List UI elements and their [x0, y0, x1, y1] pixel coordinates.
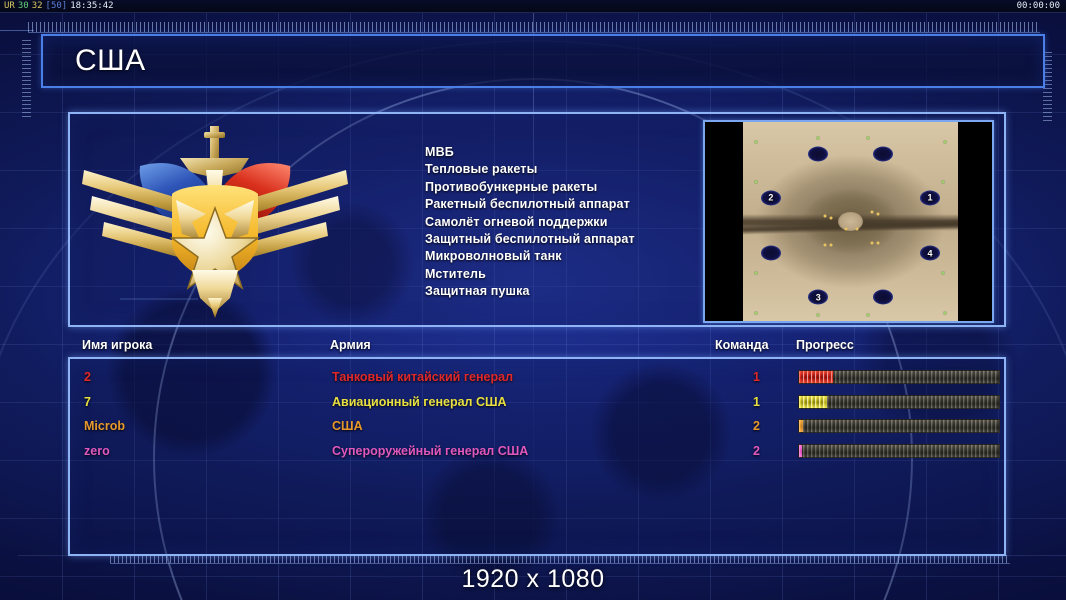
ruler-left-upper — [22, 40, 31, 120]
player-progress-bar — [798, 444, 1000, 458]
map-supply-marker — [871, 210, 874, 213]
player-progress-fill — [799, 445, 802, 457]
status-clock: 18:35:42 — [70, 0, 113, 13]
map-supply-marker — [871, 242, 874, 245]
faction-info-panel: МВБ Тепловые ракеты Противобункерные рак… — [68, 112, 1006, 327]
map-resource-marker — [817, 136, 820, 139]
player-army: Танковый китайский генерал — [332, 365, 513, 389]
map-resource-marker — [941, 272, 944, 275]
map-supply-marker — [823, 244, 826, 247]
player-name: zero — [84, 439, 110, 463]
map-start-position — [808, 146, 828, 161]
map-resource-marker — [866, 136, 869, 139]
page-title: США — [75, 44, 146, 78]
player-table-panel: 2Танковый китайский генерал17Авиационный… — [68, 357, 1006, 556]
map-resource-marker — [754, 272, 757, 275]
unit-item: Тепловые ракеты — [425, 161, 635, 178]
map-start-position — [873, 146, 893, 161]
map-supply-marker — [855, 228, 858, 231]
faction-title-panel: США — [41, 34, 1045, 88]
map-resource-marker — [941, 180, 944, 183]
map-start-position: 4 — [920, 246, 940, 261]
player-name: Microb — [84, 414, 125, 438]
map-resource-marker — [754, 312, 757, 315]
unit-item: МВБ — [425, 144, 635, 161]
player-progress-fill — [799, 396, 827, 408]
ruler-top — [28, 22, 1040, 33]
header-team: Команда — [715, 338, 769, 352]
player-army: Авиационный генерал США — [332, 390, 507, 414]
player-team: 1 — [746, 390, 760, 414]
map-start-position: 2 — [761, 190, 781, 205]
header-player-name: Имя игрока — [82, 338, 152, 352]
unit-item: Самолёт огневой поддержки — [425, 214, 635, 231]
map-supply-marker — [845, 228, 848, 231]
player-progress-bar — [798, 419, 1000, 433]
hairline-top-left — [0, 30, 34, 31]
match-timer: 00:00:00 — [1017, 0, 1062, 13]
status-value-1: 30 — [18, 0, 29, 13]
player-table-header: Имя игрока Армия Команда Прогресс — [68, 338, 1006, 358]
map-supply-marker — [830, 216, 833, 219]
map-start-position — [873, 290, 893, 305]
resolution-label: 1920 x 1080 — [0, 565, 1066, 594]
player-army: США — [332, 414, 363, 438]
unit-item: Микроволновый танк — [425, 248, 635, 265]
map-supply-marker — [877, 212, 880, 215]
player-row[interactable]: MicrobСША2 — [70, 414, 1004, 438]
player-progress-fill — [799, 420, 803, 432]
map-resource-marker — [866, 314, 869, 317]
player-team: 2 — [746, 439, 760, 463]
player-name: 7 — [84, 390, 91, 414]
player-army: Супероружейный генерал США — [332, 439, 528, 463]
map-preview[interactable]: 2143 — [703, 120, 994, 323]
player-row[interactable]: 7Авиационный генерал США1 — [70, 390, 1004, 414]
map-supply-marker — [830, 244, 833, 247]
player-progress-bar — [798, 370, 1000, 384]
map-resource-marker — [944, 140, 947, 143]
header-army: Армия — [330, 338, 371, 352]
map-resource-marker — [754, 140, 757, 143]
ruler-bottom — [110, 555, 1010, 564]
top-status-bar: UR 30 32 [50] 18:35:42 00:00:00 — [0, 0, 1066, 13]
player-row[interactable]: 2Танковый китайский генерал1 — [70, 365, 1004, 389]
map-supply-marker — [823, 214, 826, 217]
player-row[interactable]: zeroСупероружейный генерал США2 — [70, 439, 1004, 463]
map-resource-marker — [944, 312, 947, 315]
status-value-2: 32 — [32, 0, 43, 13]
player-team: 2 — [746, 414, 760, 438]
player-progress-fill — [799, 371, 833, 383]
player-team: 1 — [746, 365, 760, 389]
map-preview-image: 2143 — [743, 122, 958, 321]
unit-item: Ракетный беспилотный аппарат — [425, 196, 635, 213]
map-start-position — [761, 246, 781, 261]
status-bracket: [50] — [46, 0, 68, 13]
header-progress: Прогресс — [796, 338, 854, 352]
faction-unit-list: МВБ Тепловые ракеты Противобункерные рак… — [425, 144, 635, 301]
unit-item: Защитная пушка — [425, 283, 635, 300]
status-label: UR — [4, 0, 15, 13]
game-lobby-screen: UR 30 32 [50] 18:35:42 00:00:00 США — [0, 0, 1066, 600]
unit-item: Противобункерные ракеты — [425, 179, 635, 196]
map-resource-marker — [754, 180, 757, 183]
map-supply-marker — [877, 242, 880, 245]
player-progress-bar — [798, 395, 1000, 409]
usa-emblem — [80, 122, 350, 320]
map-resource-marker — [817, 314, 820, 317]
player-name: 2 — [84, 365, 91, 389]
unit-item: Защитный беспилотный аппарат — [425, 231, 635, 248]
unit-item: Мститель — [425, 266, 635, 283]
map-start-position: 1 — [920, 190, 940, 205]
map-start-position: 3 — [808, 290, 828, 305]
